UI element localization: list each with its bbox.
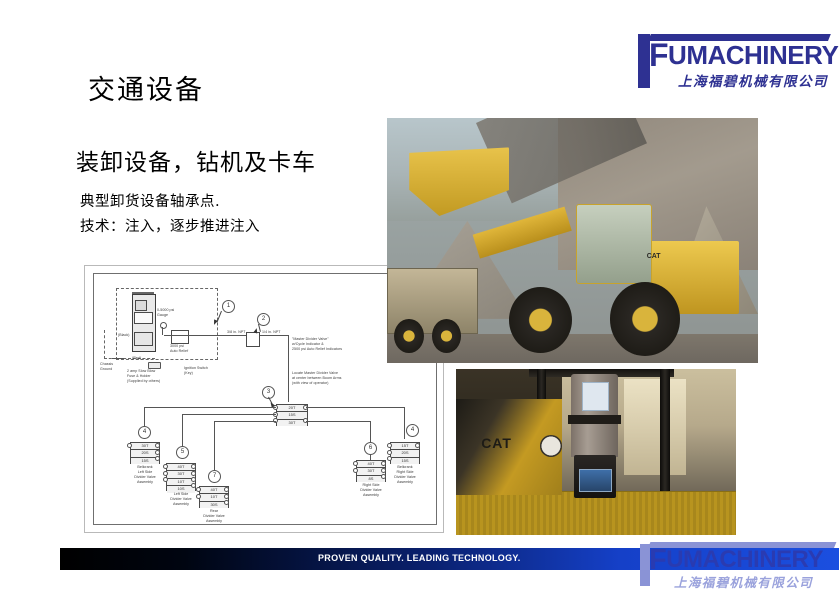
body-text-line-1: 典型卸货设备轴承点.: [80, 190, 220, 211]
loader-operator-cab: [576, 204, 652, 284]
bellcrank-right-row-3: 15S: [391, 458, 419, 464]
bus-line-c: [214, 421, 276, 422]
bellcrank-right-caption: Bellcrank Right Side Divider Valve Assem…: [384, 465, 426, 485]
brand-wordmark-rest: UMACHINERY: [668, 40, 838, 70]
bus-line-right-b: [306, 421, 370, 422]
brand-chinese-name: 上海福碧机械有限公司: [678, 70, 828, 90]
npt-38-label: 3/8 in. NPT: [227, 330, 246, 335]
body-text-line-2: 技术：注入，逐步推进注入: [80, 215, 260, 236]
pump-control-panel: [579, 469, 612, 493]
footer-tagline: PROVEN QUALITY. LEADING TECHNOLOGY.: [318, 553, 521, 563]
footer-brand-wordmark-rest: UMACHINERY: [666, 546, 823, 573]
pump-controller-window: [135, 300, 147, 311]
callout-4-right: 4: [406, 424, 419, 437]
pump-base-block: [134, 332, 153, 346]
auto-relief-label: 3000 psi Auto Relief: [170, 344, 188, 354]
reservoir-brand-label: [582, 382, 609, 411]
footer-brand-wordmark-lead: F: [649, 544, 666, 576]
black-wire-label: (Black): [118, 333, 130, 338]
cat-machine-label: CAT: [481, 435, 512, 451]
supply-line-main: [164, 335, 289, 336]
page-subtitle: 装卸设备，钻机及卡车: [76, 143, 316, 177]
red-wire-label: (Red): [132, 356, 141, 361]
supply-drop-to-master: [288, 335, 289, 402]
brand-wordmark-lead: F: [649, 37, 668, 73]
right-side-caption: Right Side Divider Valve Assembly: [350, 483, 392, 498]
inline-filter-symbol: [246, 332, 260, 347]
callout-6: 6: [364, 442, 377, 455]
rear-caption: Rear Divider Valve Assembly: [193, 509, 235, 524]
pump-reservoir-window: [134, 312, 153, 324]
fuse-holder-label: 2 amp Slow Blow Fuse & Holder (Supplied …: [127, 369, 160, 384]
callout-5: 5: [176, 446, 189, 459]
bellcrank-right-row-2: 20S: [391, 450, 419, 457]
photo-wheel-loader: CAT: [387, 118, 758, 363]
reservoir-clamp-band: [568, 415, 621, 423]
bus-line-right-a: [306, 407, 404, 408]
ignition-switch-label: Ignition Switch (Key): [184, 366, 208, 376]
fuse-symbol: [148, 362, 161, 369]
footer-brand-wordmark: FUMACHINERY: [649, 546, 823, 575]
loader-wheel-rear: [610, 282, 680, 356]
bus-line-a: [144, 407, 276, 408]
callout-7: 7: [208, 470, 221, 483]
schematic-frame: 0-5000 psi Gauge 3000 psi Auto Relief Ch…: [93, 273, 437, 525]
brand-logo: FUMACHINERY 上海福碧机械有限公司: [638, 34, 828, 94]
loader-brand-badge: CAT: [647, 253, 661, 260]
auto-relief-box: [171, 330, 189, 344]
truck-wheel-front: [394, 319, 424, 353]
page-title: 交通设备: [88, 68, 204, 107]
pump-top-cap: [132, 292, 154, 294]
ground-symbol-line: [112, 358, 124, 359]
npt-14-label: 1/4 in. NPT: [262, 330, 281, 335]
brand-wordmark: FUMACHINERY: [649, 39, 838, 71]
workshop-doorway: [624, 379, 686, 475]
truck-wheel-rear: [432, 319, 462, 353]
gauge-stem: [162, 327, 163, 335]
master-valve-note: "Master Divider Valve" w/Cycle Indicator…: [292, 337, 342, 352]
gauge-label: 0-5000 psi Gauge: [157, 308, 174, 318]
bellcrank-left-caption: Bellcrank Left Side Divider Valve Assemb…: [124, 465, 166, 485]
footer-brand-chinese-name: 上海福碧机械有限公司: [674, 572, 813, 591]
chassis-ground-label: Chassis Ground: [100, 362, 113, 372]
callout-4-left: 4: [138, 426, 151, 439]
callout-1: 1: [222, 300, 235, 313]
locate-master-note: Locate Master Divider Valve at center be…: [292, 371, 342, 386]
drop-to-assembly-4r: [404, 407, 405, 439]
photo-lubrication-unit: CAT: [456, 369, 736, 535]
footer-brand-logo: FUMACHINERY 上海福碧机械有限公司: [640, 540, 835, 590]
bus-line-b: [182, 414, 276, 415]
